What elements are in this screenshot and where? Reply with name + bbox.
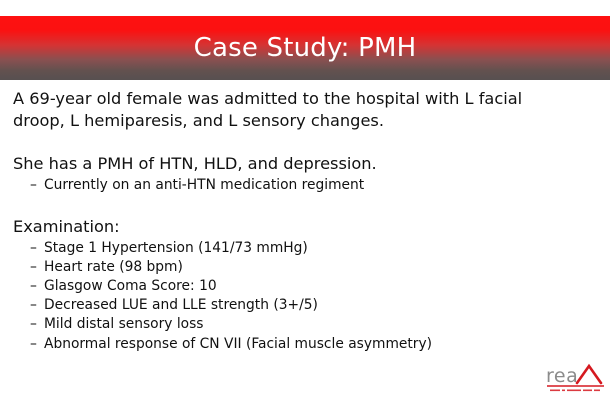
list-item-label: Mild distal sensory loss (44, 316, 204, 332)
examination-heading: Examination: (13, 216, 597, 237)
slide-body: A 69-year old female was admitted to the… (13, 88, 597, 354)
spacer-after-pmh (13, 195, 597, 216)
pmh-bullet-list: – Currently on an anti-HTN medication re… (13, 176, 597, 195)
rea-logo-icon: rea (544, 360, 606, 396)
list-item: – Abnormal response of CN VII (Facial mu… (13, 335, 597, 354)
list-item-label: Glasgow Coma Score: 10 (44, 278, 217, 294)
dash-bullet-icon: – (30, 176, 37, 195)
dash-bullet-icon: – (30, 335, 37, 354)
list-item: – Mild distal sensory loss (13, 315, 597, 334)
list-item-label: Decreased LUE and LLE strength (3+/5) (44, 297, 318, 313)
svg-text:rea: rea (546, 365, 578, 387)
dash-bullet-icon: – (30, 239, 37, 258)
list-item-label: Stage 1 Hypertension (141/73 mmHg) (44, 240, 308, 256)
dash-bullet-icon: – (30, 315, 37, 334)
dash-bullet-icon: – (30, 296, 37, 315)
dash-bullet-icon: – (30, 258, 37, 277)
intro-paragraph: A 69-year old female was admitted to the… (13, 88, 579, 131)
company-logo: rea (544, 360, 606, 396)
dash-bullet-icon: – (30, 277, 37, 296)
pmh-heading: She has a PMH of HTN, HLD, and depressio… (13, 153, 597, 174)
page-title: Case Study: PMH (0, 16, 610, 80)
list-item: – Heart rate (98 bpm) (13, 258, 597, 277)
list-item-label: Abnormal response of CN VII (Facial musc… (44, 336, 432, 352)
spacer-after-intro (13, 131, 597, 153)
slide-canvas: { "slide": { "title": "Case Study: PMH",… (0, 0, 610, 400)
list-item: – Stage 1 Hypertension (141/73 mmHg) (13, 239, 597, 258)
list-item: – Decreased LUE and LLE strength (3+/5) (13, 296, 597, 315)
list-item-label: Currently on an anti-HTN medication regi… (44, 177, 364, 193)
list-item: – Currently on an anti-HTN medication re… (13, 176, 597, 195)
list-item: – Glasgow Coma Score: 10 (13, 277, 597, 296)
list-item-label: Heart rate (98 bpm) (44, 259, 183, 275)
title-banner: Case Study: PMH (0, 16, 610, 80)
examination-bullet-list: – Stage 1 Hypertension (141/73 mmHg) – H… (13, 239, 597, 354)
